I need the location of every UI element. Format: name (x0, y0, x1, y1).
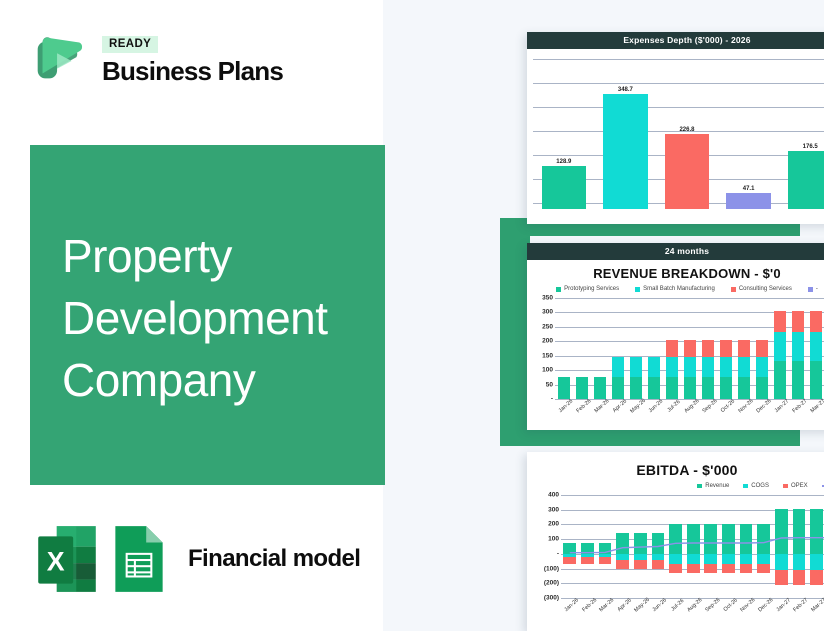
bar-segment (775, 509, 788, 554)
bar-segment (774, 361, 787, 399)
y-tick-label: 350 (542, 295, 553, 302)
legend-swatch (743, 484, 748, 488)
bar-stack (740, 493, 753, 600)
bar-segment (720, 357, 733, 377)
legend-swatch (556, 287, 561, 292)
bar-segment (810, 570, 823, 585)
bar-stack (738, 296, 751, 401)
ebitda-bar (614, 493, 632, 600)
bar-segment (720, 377, 733, 399)
expenses-bar-segment (603, 94, 647, 209)
revenue-y-axis: 35030025020015010050- (529, 296, 555, 401)
expenses-bar-segment (665, 134, 709, 209)
bar-segment (810, 554, 823, 570)
y-tick-label: 300 (548, 506, 559, 513)
expenses-chart-body: 128.9348.7226.847.1176.5 (527, 59, 824, 209)
revenue-bar (573, 296, 591, 401)
legend-item: COGS (743, 483, 769, 489)
ebitda-chart-body: EBITDA - $'000 RevenueCOGSOPEX0 40030020… (527, 452, 824, 609)
bar-stack (630, 296, 643, 401)
revenue-bar (699, 296, 717, 401)
bar-segment (740, 564, 753, 573)
bar-segment (616, 533, 629, 554)
revenue-legend: Prototyping ServicesSmall Batch Manufact… (527, 281, 824, 294)
revenue-bar (681, 296, 699, 401)
y-tick-label: 250 (542, 323, 553, 330)
legend-item: Small Batch Manufacturing (635, 286, 715, 292)
bar-segment (666, 377, 679, 399)
bar-segment (669, 564, 682, 573)
y-tick-label: 150 (542, 352, 553, 359)
google-sheets-icon (108, 522, 170, 596)
bar-stack (612, 296, 625, 401)
ebitda-bar (579, 493, 597, 600)
ready-badge: READY (102, 36, 158, 53)
bar-segment (704, 554, 717, 565)
bar-segment (792, 311, 805, 332)
bar-segment (666, 357, 679, 377)
bar-segment (599, 557, 612, 564)
bar-stack (720, 296, 733, 401)
bar-segment (612, 377, 625, 399)
bar-segment (563, 557, 576, 564)
brand-name: Business Plans (102, 56, 283, 87)
revenue-bar (789, 296, 807, 401)
revenue-bar (555, 296, 573, 401)
bar-stack (704, 493, 717, 600)
expenses-bar: 176.5 (779, 59, 824, 209)
expenses-bar: 128.9 (533, 59, 595, 209)
bar-segment (702, 377, 715, 399)
bar-segment (722, 524, 735, 554)
chart-card-revenue[interactable]: 24 months REVENUE BREAKDOWN - $'0 Protot… (527, 243, 824, 430)
y-tick-label: 200 (548, 521, 559, 528)
bar-segment (616, 560, 629, 569)
y-tick-label: - (557, 550, 559, 557)
expenses-bar-label: 128.9 (533, 159, 595, 165)
expenses-bar-label: 47.1 (718, 186, 780, 192)
bar-stack (756, 296, 769, 401)
bar-segment (740, 524, 753, 554)
ebitda-bar (790, 493, 808, 600)
revenue-chart-body: REVENUE BREAKDOWN - $'0 Prototyping Serv… (527, 260, 824, 410)
bar-stack (558, 296, 571, 401)
play-triangle-logo-icon (28, 28, 90, 90)
ebitda-bar (720, 493, 738, 600)
bar-stack (594, 296, 607, 401)
legend-item: Prototyping Services (556, 286, 619, 292)
bar-segment (687, 564, 700, 573)
bar-segment (684, 377, 697, 399)
page-title: Property Development Company (62, 225, 375, 411)
ebitda-legend: RevenueCOGSOPEX0 (527, 478, 824, 491)
bar-segment (630, 357, 643, 377)
bar-stack (616, 493, 629, 600)
ebitda-bar (737, 493, 755, 600)
revenue-bar (753, 296, 771, 401)
revenue-bar (663, 296, 681, 401)
bar-segment (702, 340, 715, 357)
bar-stack (774, 296, 787, 401)
legend-item: Revenue (697, 483, 729, 489)
expenses-bar-segment (542, 166, 586, 209)
bar-segment (793, 570, 806, 585)
bar-segment (576, 377, 589, 399)
bar-segment (756, 340, 769, 357)
ebitda-bar (808, 493, 824, 600)
bar-segment (599, 543, 612, 554)
expenses-bar-label: 226.8 (656, 127, 718, 133)
bar-segment (738, 340, 751, 357)
bar-segment (652, 533, 665, 554)
ebitda-bar (632, 493, 650, 600)
bar-segment (757, 554, 770, 565)
bar-stack (666, 296, 679, 401)
bar-segment (774, 311, 787, 332)
legend-label: COGS (751, 483, 769, 489)
bar-segment (775, 554, 788, 570)
legend-swatch (697, 484, 702, 488)
y-tick-label: 100 (548, 536, 559, 543)
revenue-bar (591, 296, 609, 401)
bar-segment (740, 554, 753, 565)
bar-segment (792, 332, 805, 361)
slide-root: READY Business Plans Property Developmen… (0, 0, 824, 631)
ebitda-chart-heading: EBITDA - $'000 (527, 452, 824, 478)
bar-stack (669, 493, 682, 600)
y-tick-label: (300) (544, 595, 559, 602)
bar-stack (684, 296, 697, 401)
ebitda-bar (649, 493, 667, 600)
bar-segment (594, 377, 607, 399)
expenses-bar: 47.1 (718, 59, 780, 209)
bar-segment (704, 524, 717, 554)
svg-text:X: X (47, 546, 65, 576)
bar-segment (738, 377, 751, 399)
revenue-bar (735, 296, 753, 401)
legend-swatch (808, 287, 813, 292)
legend-swatch (635, 287, 640, 292)
accent-strip-left (500, 218, 530, 446)
expenses-bar-label: 176.5 (779, 144, 824, 150)
revenue-bar (717, 296, 735, 401)
ebitda-plot-area: 400300200100-(100)(200)(300) (529, 493, 824, 600)
y-tick-label: 300 (542, 309, 553, 316)
revenue-bar (771, 296, 789, 401)
expenses-bar: 348.7 (595, 59, 657, 209)
revenue-bars (555, 296, 824, 401)
bar-stack (757, 493, 770, 600)
bar-segment (563, 543, 576, 554)
brand-text-group: READY Business Plans (102, 28, 283, 87)
legend-item: OPEX (783, 483, 808, 489)
bar-stack (634, 493, 647, 600)
y-tick-label: 400 (548, 492, 559, 499)
ebitda-bar (702, 493, 720, 600)
brand-lockup: READY Business Plans (28, 28, 283, 90)
bar-segment (669, 554, 682, 565)
bar-segment (684, 357, 697, 377)
revenue-plot-area: 35030025020015010050- (529, 296, 824, 401)
footer-label: Financial model (188, 545, 360, 573)
y-tick-label: - (551, 396, 553, 403)
bar-stack (576, 296, 589, 401)
bar-segment (810, 509, 823, 554)
chart-card-expenses[interactable]: Expenses Depth ($'000) - 2026 128.9348.7… (527, 32, 824, 224)
ebitda-bar (755, 493, 773, 600)
footer-row: X Financial model (34, 522, 360, 596)
bar-segment (720, 340, 733, 357)
bar-segment (810, 332, 823, 361)
bar-stack (722, 493, 735, 600)
ebitda-bars (561, 493, 824, 600)
bar-segment (634, 533, 647, 554)
bar-segment (648, 377, 661, 399)
revenue-bar (627, 296, 645, 401)
legend-item: Consulting Services (731, 286, 792, 292)
bar-segment (722, 564, 735, 573)
legend-item: - (808, 286, 818, 292)
microsoft-excel-icon: X (34, 522, 100, 596)
bar-segment (738, 357, 751, 377)
bar-segment (756, 357, 769, 377)
bar-segment (810, 361, 823, 399)
bar-segment (634, 560, 647, 569)
revenue-x-axis: Jan-26Feb-26Mar-26Apr-26May-26Jun-26Jul-… (555, 404, 824, 410)
bar-stack (581, 493, 594, 600)
y-tick-label: (100) (544, 565, 559, 572)
chart-card-ebitda[interactable]: EBITDA - $'000 RevenueCOGSOPEX0 40030020… (527, 452, 824, 631)
y-tick-label: 200 (542, 338, 553, 345)
revenue-chart-heading: REVENUE BREAKDOWN - $'0 (527, 260, 824, 281)
expenses-bars: 128.9348.7226.847.1176.5 (533, 59, 824, 209)
ebitda-x-axis: Jan-26Feb-26Mar-26Apr-26May-26Jun-26Jul-… (561, 603, 824, 609)
bar-segment (756, 377, 769, 399)
bar-segment (702, 357, 715, 377)
revenue-bar (807, 296, 824, 401)
bar-segment (669, 524, 682, 554)
bar-stack (810, 493, 823, 600)
bar-segment (775, 570, 788, 585)
bar-segment (687, 524, 700, 554)
bar-segment (630, 377, 643, 399)
expenses-bar: 226.8 (656, 59, 718, 209)
bar-segment (687, 554, 700, 565)
expenses-plot-area: 128.9348.7226.847.1176.5 (533, 59, 824, 209)
bar-segment (612, 357, 625, 377)
bar-stack (775, 493, 788, 600)
bar-stack (563, 493, 576, 600)
bar-segment (792, 361, 805, 399)
bar-segment (793, 509, 806, 554)
bar-segment (757, 564, 770, 573)
bar-segment (684, 340, 697, 357)
ebitda-bar (596, 493, 614, 600)
bar-segment (810, 311, 823, 332)
bar-segment (652, 560, 665, 569)
legend-label: Prototyping Services (564, 286, 619, 292)
bar-segment (581, 557, 594, 564)
y-tick-label: (200) (544, 580, 559, 587)
legend-label: - (816, 286, 818, 292)
legend-label: Revenue (705, 483, 729, 489)
bar-stack (793, 493, 806, 600)
legend-label: Consulting Services (739, 286, 792, 292)
bar-stack (652, 493, 665, 600)
bar-segment (774, 332, 787, 361)
ebitda-y-axis: 400300200100-(100)(200)(300) (529, 493, 561, 600)
bar-segment (757, 524, 770, 554)
bar-segment (581, 543, 594, 554)
y-tick-label: 50 (546, 381, 553, 388)
expenses-bar-label: 348.7 (595, 87, 657, 93)
ebitda-bar (684, 493, 702, 600)
bar-segment (793, 554, 806, 570)
legend-swatch (731, 287, 736, 292)
bar-segment (722, 554, 735, 565)
legend-label: OPEX (791, 483, 808, 489)
bar-stack (687, 493, 700, 600)
revenue-bar (609, 296, 627, 401)
legend-label: Small Batch Manufacturing (643, 286, 715, 292)
ebitda-bar (773, 493, 791, 600)
bar-stack (599, 493, 612, 600)
bar-stack (792, 296, 805, 401)
ebitda-bar (667, 493, 685, 600)
bar-stack (648, 296, 661, 401)
y-tick-label: 100 (542, 367, 553, 374)
bar-segment (666, 340, 679, 357)
bar-segment (558, 377, 571, 399)
bar-segment (648, 357, 661, 377)
accent-strip-middle (500, 430, 800, 446)
bar-segment (704, 564, 717, 573)
revenue-bar (645, 296, 663, 401)
expenses-bar-segment (726, 193, 770, 209)
revenue-card-title: 24 months (527, 243, 824, 260)
expenses-bar-segment (788, 151, 824, 209)
hero-block: Property Development Company (30, 145, 385, 485)
ebitda-bar (561, 493, 579, 600)
expenses-card-title: Expenses Depth ($'000) - 2026 (527, 32, 824, 49)
bar-stack (810, 296, 823, 401)
legend-swatch (783, 484, 788, 488)
bar-stack (702, 296, 715, 401)
